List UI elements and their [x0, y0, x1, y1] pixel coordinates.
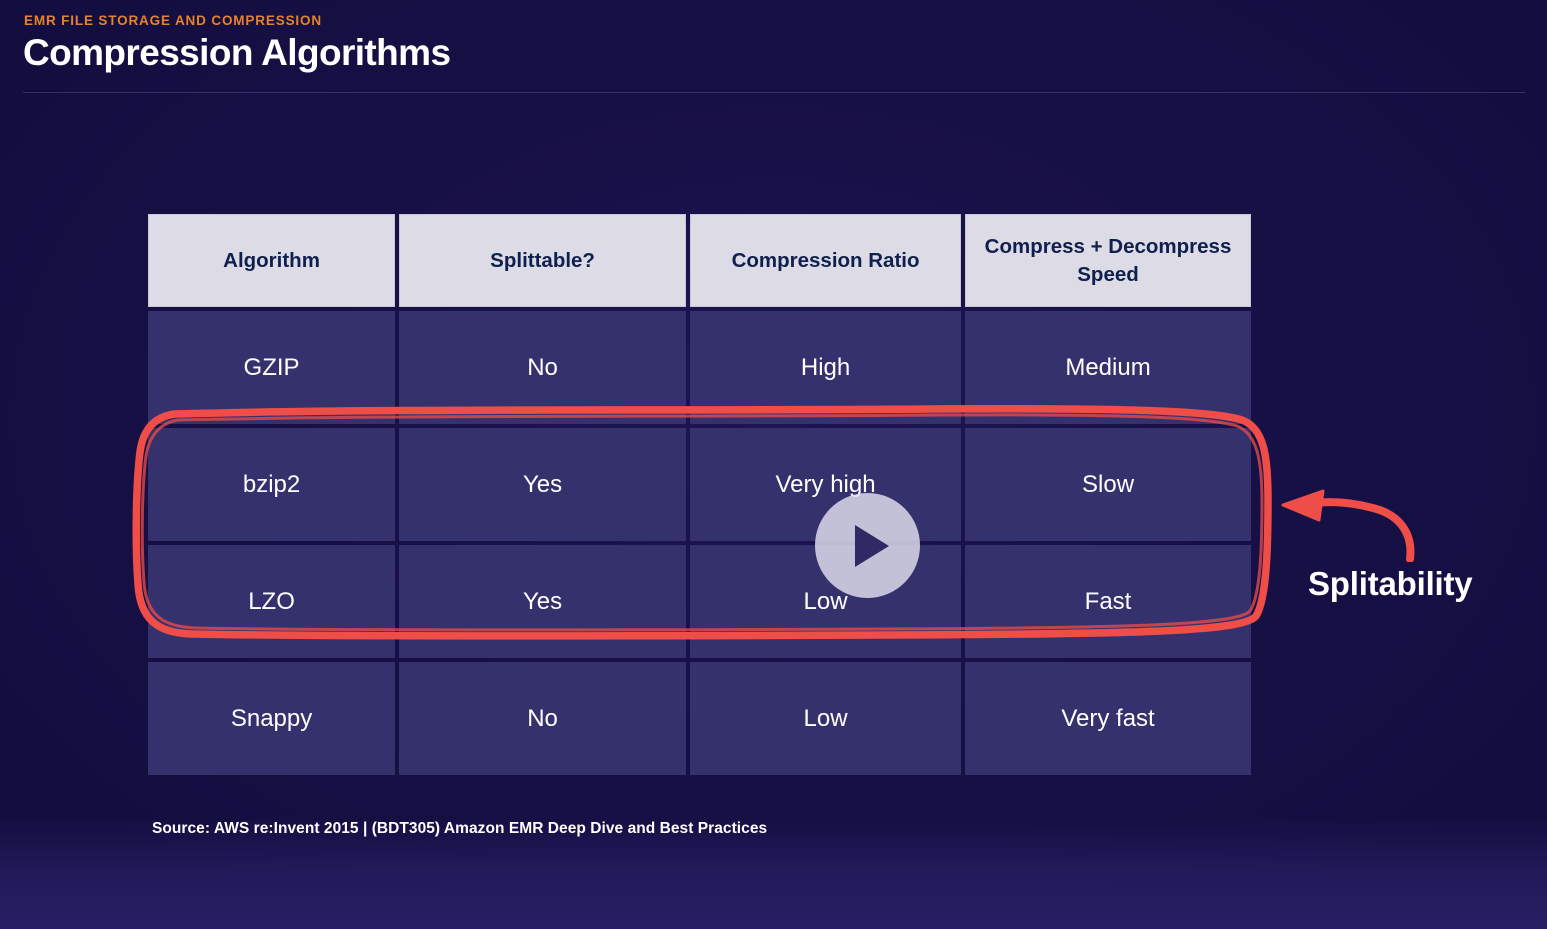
cell-splittable: Yes — [399, 428, 686, 541]
column-header-algorithm: Algorithm — [148, 214, 395, 307]
column-header-splittable: Splittable? — [399, 214, 686, 307]
source-citation: Source: AWS re:Invent 2015 | (BDT305) Am… — [152, 820, 767, 838]
slide-canvas: EMR FILE STORAGE AND COMPRESSION Compres… — [0, 0, 1547, 929]
page-title: Compression Algorithms — [23, 33, 1547, 73]
cell-splittable: No — [399, 311, 686, 424]
annotation-label-splitability: Splitability — [1308, 565, 1472, 603]
cell-compression-ratio: Low — [690, 662, 961, 775]
cell-speed: Fast — [965, 545, 1251, 658]
play-triangle-icon — [855, 525, 889, 567]
cell-speed: Medium — [965, 311, 1251, 424]
cell-algorithm: Snappy — [148, 662, 395, 775]
compression-algorithms-table: Algorithm Splittable? Compression Ratio … — [148, 214, 1251, 775]
table-row: GZIP No High Medium — [148, 311, 1251, 424]
table-header-row: Algorithm Splittable? Compression Ratio … — [148, 214, 1251, 307]
column-header-compression-ratio: Compression Ratio — [690, 214, 961, 307]
cell-algorithm: bzip2 — [148, 428, 395, 541]
cell-algorithm: GZIP — [148, 311, 395, 424]
cell-splittable: No — [399, 662, 686, 775]
table-row: LZO Yes Low Fast — [148, 545, 1251, 658]
cell-compression-ratio: High — [690, 311, 961, 424]
column-header-compress-decompress-speed: Compress + Decompress Speed — [965, 214, 1251, 307]
cell-speed: Very fast — [965, 662, 1251, 775]
cell-algorithm: LZO — [148, 545, 395, 658]
table-row: bzip2 Yes Very high Slow — [148, 428, 1251, 541]
cell-splittable: Yes — [399, 545, 686, 658]
header-divider — [23, 92, 1525, 93]
curved-arrow-icon — [1279, 487, 1424, 562]
section-eyebrow: EMR FILE STORAGE AND COMPRESSION — [24, 13, 1547, 28]
play-button[interactable] — [815, 493, 920, 598]
cell-speed: Slow — [965, 428, 1251, 541]
slide-header: EMR FILE STORAGE AND COMPRESSION Compres… — [0, 0, 1547, 73]
table-row: Snappy No Low Very fast — [148, 662, 1251, 775]
